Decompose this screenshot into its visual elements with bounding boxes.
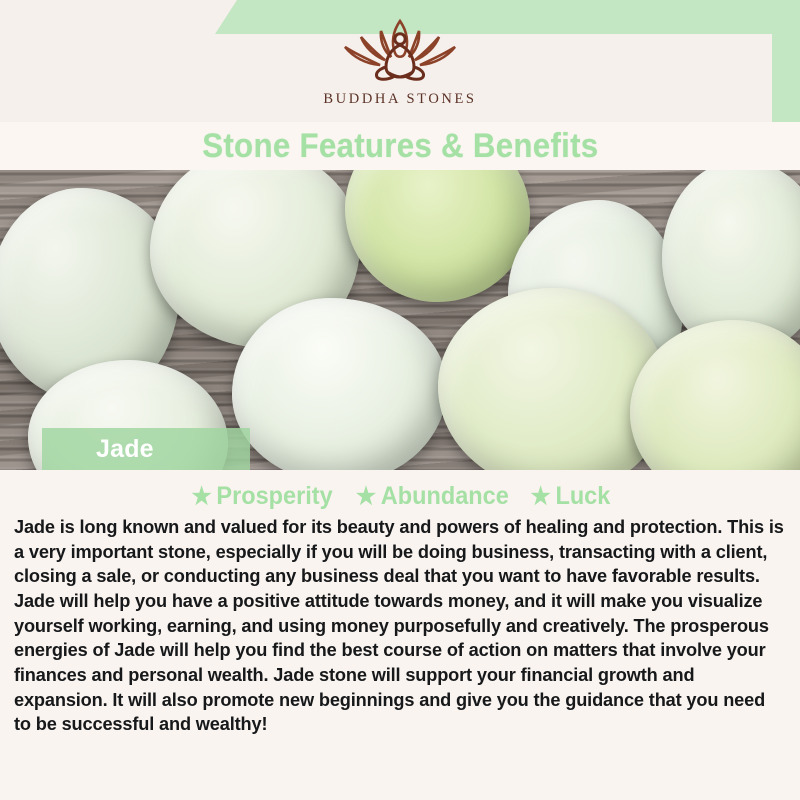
benefit-item: ★ Prosperity (192, 482, 333, 511)
benefit-label: Prosperity (217, 482, 333, 511)
star-icon: ★ (531, 485, 551, 509)
stone-name-label: Jade (42, 435, 154, 464)
stone-name-banner: Jade (42, 428, 250, 470)
benefit-label: Luck (555, 482, 610, 511)
stone-description: Jade is long known and valued for its be… (14, 515, 786, 737)
brand-header: BUDDHA STONES (0, 0, 800, 122)
star-icon: ★ (192, 485, 212, 509)
content-area: ★ Prosperity ★ Abundance ★ Luck Jade is … (0, 470, 800, 800)
benefit-item: ★ Abundance (356, 482, 509, 511)
benefits-row: ★ Prosperity ★ Abundance ★ Luck (14, 482, 786, 511)
star-icon: ★ (356, 485, 376, 509)
brand-name: BUDDHA STONES (323, 91, 476, 108)
lotus-meditation-icon (325, 15, 475, 87)
title-band: Stone Features & Benefits (0, 122, 800, 170)
benefit-label: Abundance (381, 482, 509, 511)
stone-photo (0, 170, 800, 470)
benefit-item: ★ Luck (531, 482, 611, 511)
page-title: Stone Features & Benefits (202, 127, 598, 166)
